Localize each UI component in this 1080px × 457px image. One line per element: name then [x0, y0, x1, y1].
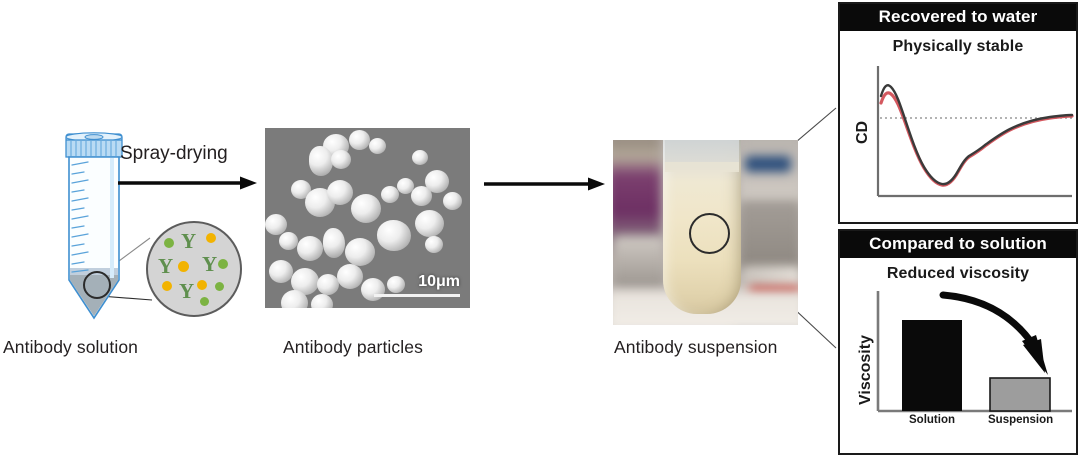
cd-y-axis-title: CD: [854, 121, 872, 144]
panel-subtitle-reduced-viscosity: Reduced viscosity: [840, 265, 1076, 283]
panel-recovered-to-water: Recovered to water Physically stable CD: [838, 2, 1078, 224]
excipient-dot-green: [200, 297, 209, 306]
antibody-glyph: Y: [158, 256, 173, 277]
excipient-dot-orange: [178, 261, 189, 272]
bar-label-suspension: Suspension: [988, 414, 1052, 426]
antibody-glyph: Y: [181, 231, 196, 252]
cd-spectrum-chart: CD: [840, 56, 1076, 216]
excipient-dot-green: [164, 238, 174, 248]
caption-antibody-solution: Antibody solution: [3, 337, 138, 358]
viscosity-bar-chart: Viscosity Solution Suspension: [840, 283, 1076, 448]
viscosity-y-axis-title: Viscosity: [857, 335, 875, 405]
panel-subtitle-physically-stable: Physically stable: [840, 38, 1076, 56]
sem-scale-bar-label: 10μm: [418, 273, 460, 291]
antibody-suspension-photo: [613, 140, 798, 325]
excipient-dot-orange: [197, 280, 207, 290]
excipient-dot-green: [218, 259, 228, 269]
tube-callout-circle: [83, 271, 111, 299]
caption-antibody-suspension: Antibody suspension: [614, 337, 777, 358]
bar-label-solution: Solution: [902, 414, 962, 426]
bar-suspension: [990, 378, 1050, 411]
antibody-glyph: Y: [179, 281, 194, 302]
sem-scale-bar: [374, 294, 460, 297]
excipient-dot-orange: [162, 281, 172, 291]
reconstitution-arrow: [484, 176, 606, 192]
antibody-glyph: Y: [202, 254, 217, 275]
excipient-dot-orange: [206, 233, 216, 243]
excipient-dot-green: [215, 282, 224, 291]
panel-header-compared-to-solution: Compared to solution: [840, 231, 1076, 258]
panel-compared-to-solution: Compared to solution Reduced viscosity V…: [838, 229, 1078, 455]
caption-antibody-particles: Antibody particles: [283, 337, 423, 358]
graphical-abstract: Antibody solution Y Y Y Y Spray-drying: [0, 0, 1080, 457]
spray-drying-label: Spray-drying: [120, 143, 228, 165]
spray-drying-arrow: [118, 175, 258, 191]
sem-micrograph: 10μm: [265, 128, 470, 308]
antibody-molecules-inset: Y Y Y Y: [146, 221, 242, 317]
panel-header-recovered-to-water: Recovered to water: [840, 4, 1076, 31]
vial-callout-circle: [689, 213, 730, 254]
cd-plot-svg: [840, 56, 1076, 216]
bar-solution: [902, 320, 962, 411]
